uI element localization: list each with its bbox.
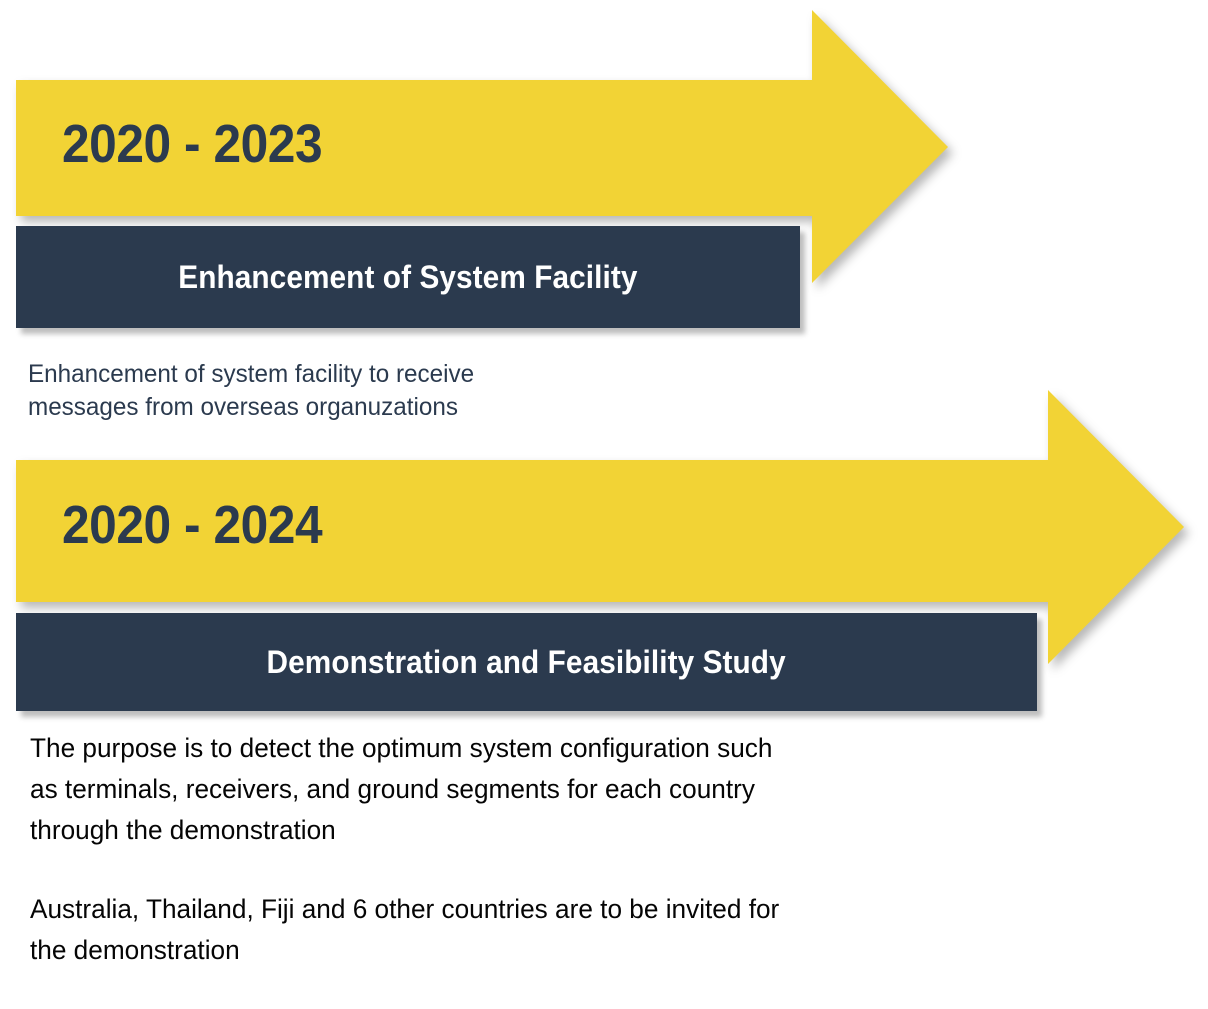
phase-2-description-line: Australia, Thailand, Fiji and 6 other co…: [30, 889, 1039, 930]
phase-2-description-line: The purpose is to detect the optimum sys…: [30, 728, 1039, 769]
phase-2-description-line: through the demonstration: [30, 810, 1039, 851]
phase-2-description-paragraph: Australia, Thailand, Fiji and 6 other co…: [30, 889, 1070, 971]
phase-1-title-bar: Enhancement of System Facility: [16, 226, 800, 328]
phase-1-year-range: 2020 - 2023: [62, 113, 322, 175]
phase-2-description-line: as terminals, receivers, and ground segm…: [30, 769, 1039, 810]
phase-1-title-text: Enhancement of System Facility: [178, 259, 637, 296]
phase-1-description-line: Enhancement of system facility to receiv…: [28, 358, 707, 391]
phase-2-description-paragraph: The purpose is to detect the optimum sys…: [30, 728, 1070, 851]
paragraph-spacer: [30, 851, 1070, 889]
phase-2-title-text: Demonstration and Feasibility Study: [267, 644, 786, 681]
phase-2-year-range: 2020 - 2024: [62, 494, 322, 556]
phase-2-title-bar: Demonstration and Feasibility Study: [16, 613, 1037, 711]
phase-2-description-line: the demonstration: [30, 930, 1039, 971]
phase-2-description: The purpose is to detect the optimum sys…: [30, 728, 1070, 971]
timeline-roadmap-canvas: 2020 - 2023 Enhancement of System Facili…: [0, 0, 1208, 1009]
